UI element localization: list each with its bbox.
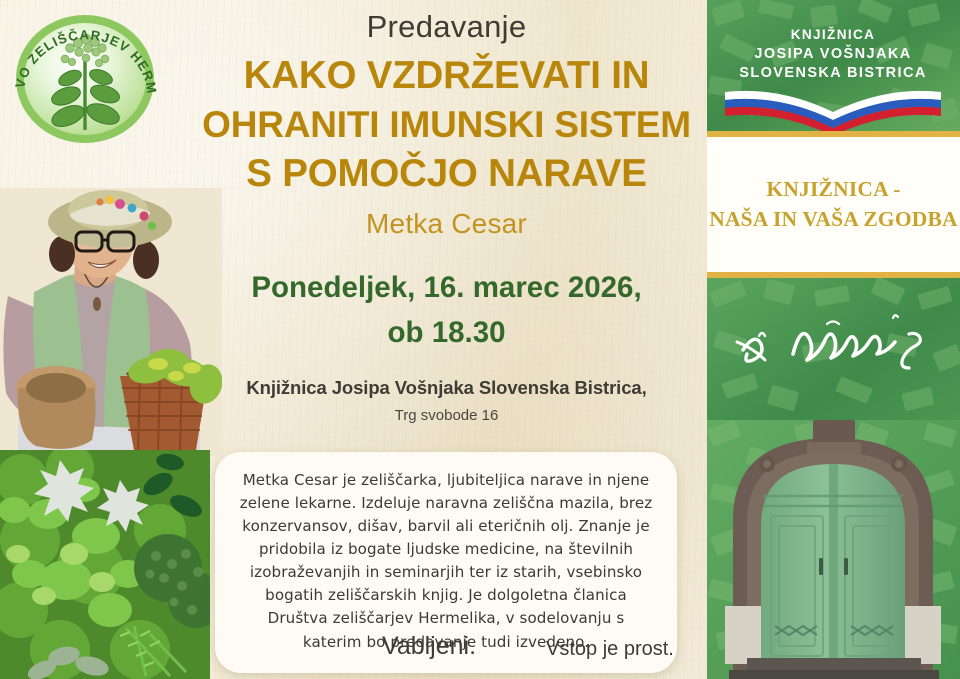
venue-address: Trg svobode 16 [186,407,707,424]
headline-line-2: OHRANITI IMUNSKI SISTEM [186,101,707,149]
library-logo-line-3: SLOVENSKA BISTRICA [739,65,926,81]
venue-name: Knjižnica Josipa Vošnjaka Slovenska Bist… [186,377,707,399]
speaker-name: Metka Cesar [186,208,707,240]
event-datetime: Ponedeljek, 16. marec 2026, ob 18.30 [186,266,707,356]
event-time: ob 18.30 [186,311,707,356]
green-arched-door-icon [707,420,960,679]
footer: Vabljeni. Vstop je prost. [186,628,707,676]
library-slogan-banner: KNJIŽNICA - NAŠA IN VAŠA ZGODBA [707,137,960,272]
library-logo-block: KNJIŽNICA JOSIPA VOŠNJAKA SLOVENSKA BIST… [707,0,960,131]
society-logo: DRUŠTVO ZELIŠČARJEV HERMELIKA [8,4,163,154]
green-herbs-photo [0,450,210,679]
headline-line-3: S POMOČJO NARAVE [186,149,707,199]
banner-line-1: KNJIŽNICA - [709,175,958,205]
invitation-text: Vabljeni. [382,632,476,661]
main-text-column: Predavanje KAKO VZDRŽEVATI IN OHRANITI I… [186,0,707,679]
headline-line-1: KAKO VZDRŽEVATI IN [186,51,707,101]
poster-root: DRUŠTVO ZELIŠČARJEV HERMELIKA [0,0,960,679]
right-panel: KNJIŽNICA JOSIPA VOŠNJAKA SLOVENSKA BIST… [707,0,960,679]
kicker-label: Predavanje [186,9,707,45]
banner-line-2: NAŠA IN VAŠA ZGODBA [709,205,958,235]
free-entry-text: Vstop je prost. [546,638,674,661]
library-logo-line-1: KNJIŽNICA [791,27,876,42]
library-logo-line-2: JOSIPA VOŠNJAKA [754,44,911,62]
headline: KAKO VZDRŽEVATI IN OHRANITI IMUNSKI SIST… [186,51,707,199]
event-date: Ponedeljek, 16. marec 2026, [186,266,707,311]
